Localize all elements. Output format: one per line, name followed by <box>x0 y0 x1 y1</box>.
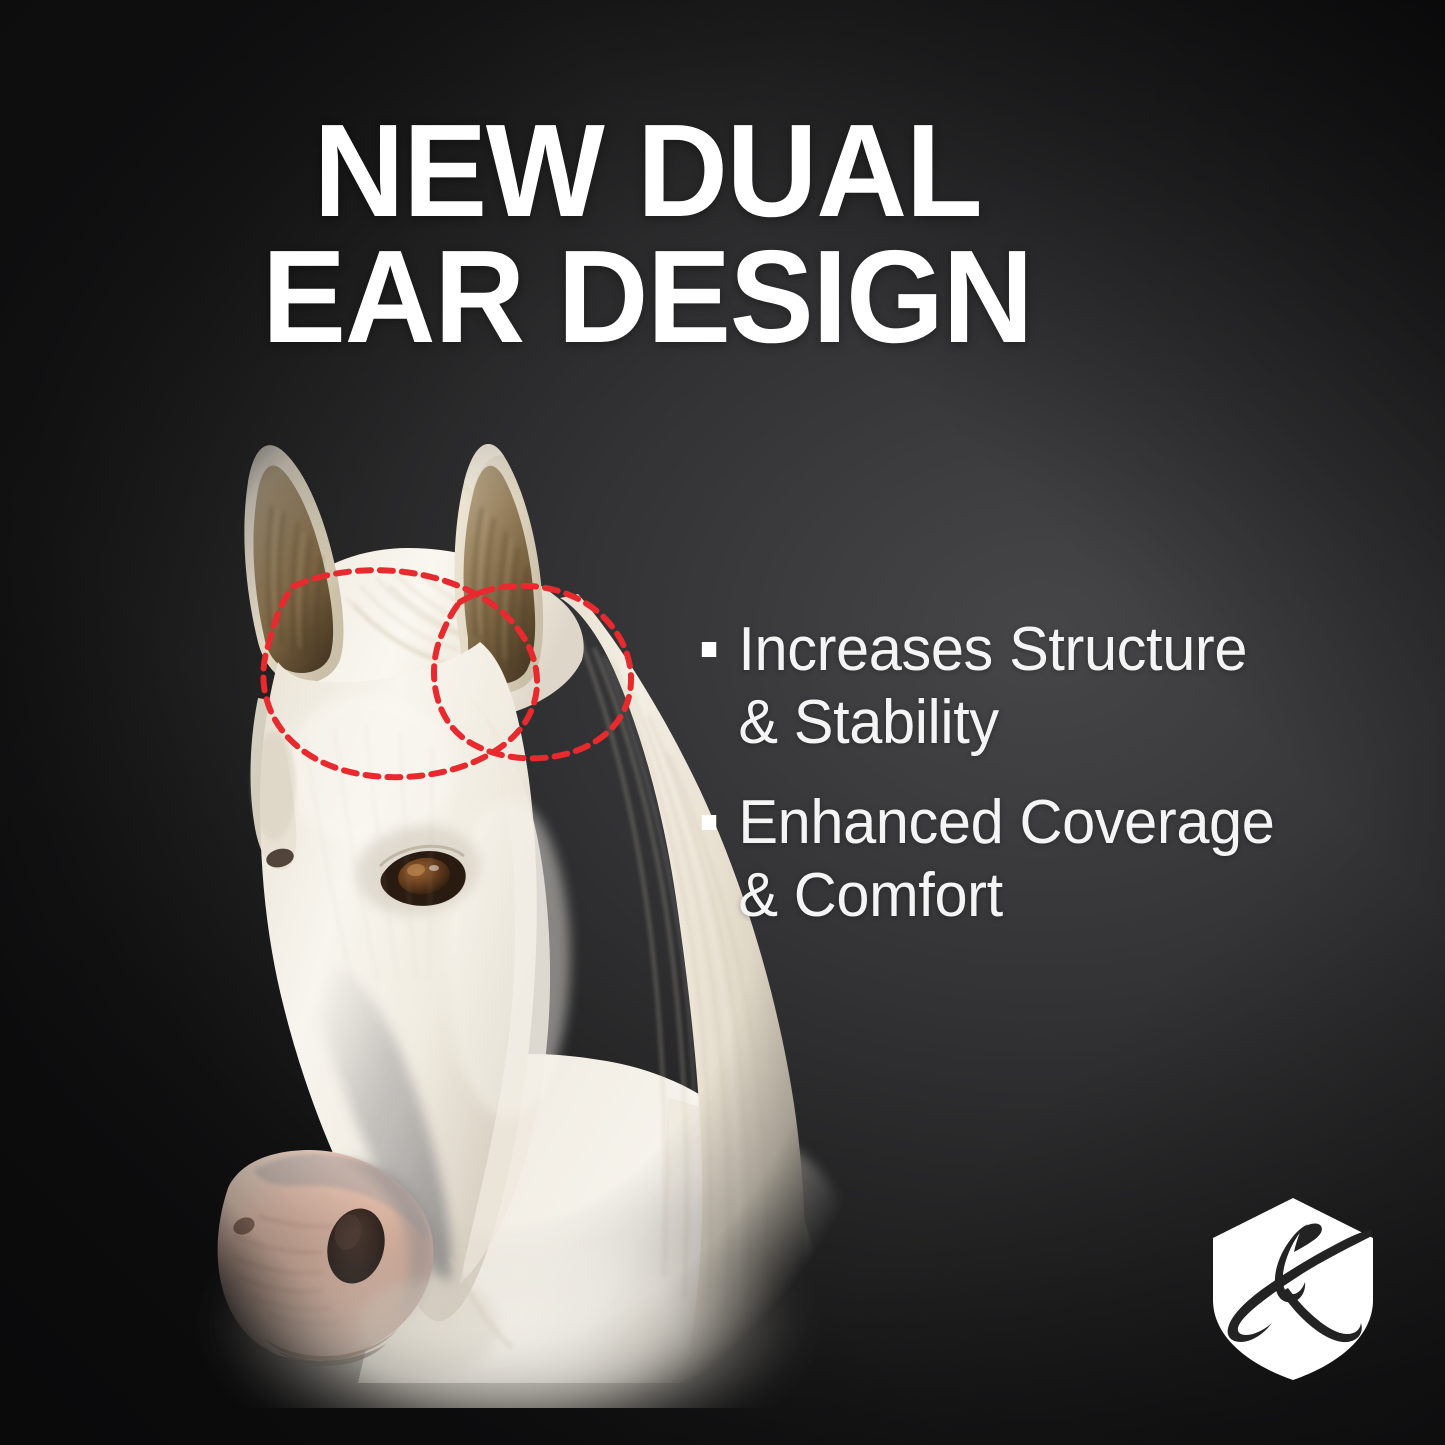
list-item: Enhanced Coverage & Comfort <box>698 787 1343 932</box>
headline-line-1: NEW DUAL <box>314 108 1179 234</box>
list-item: Increases Structure & Stability <box>698 614 1343 759</box>
shield-icon <box>1213 1198 1373 1380</box>
ad-creative: NEW DUAL EAR DESIGN Increases Structure … <box>0 0 1445 1445</box>
list-item-line-1: Enhanced Coverage <box>738 787 1343 860</box>
feature-list: Increases Structure & Stability Enhanced… <box>698 614 1370 932</box>
brand-logo <box>1206 1196 1380 1382</box>
bullet-square-icon <box>702 815 716 830</box>
bullet-square-icon <box>702 642 716 657</box>
headline-line-2: EAR DESIGN <box>262 234 1179 360</box>
horse-left-ear <box>244 445 343 683</box>
list-item-line-2: & Comfort <box>738 860 1343 933</box>
list-item-line-2: & Stability <box>738 687 1343 760</box>
headline: NEW DUAL EAR DESIGN <box>262 108 1179 360</box>
list-item-line-1: Increases Structure <box>738 614 1343 687</box>
